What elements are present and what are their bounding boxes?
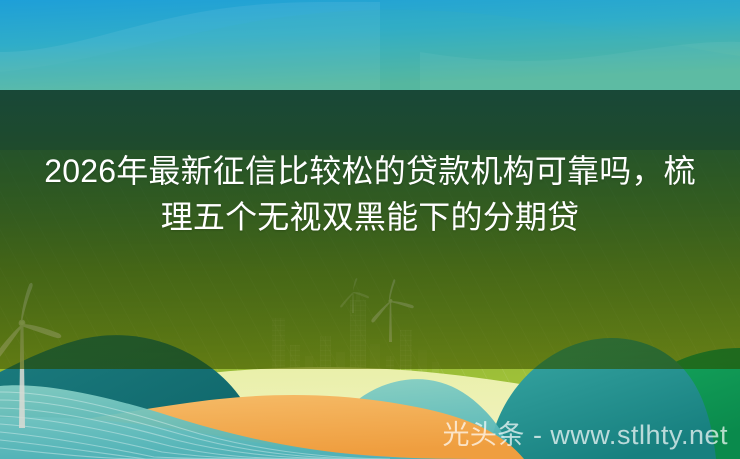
page-title: 2026年最新征信比较松的贷款机构可靠吗，梳理五个无视双黑能下的分期贷 bbox=[40, 148, 700, 240]
article-cover-image: 2026年最新征信比较松的贷款机构可靠吗，梳理五个无视双黑能下的分期贷 光头条 … bbox=[0, 0, 740, 459]
site-watermark: 光头条 - www.stlhty.net bbox=[442, 419, 728, 451]
